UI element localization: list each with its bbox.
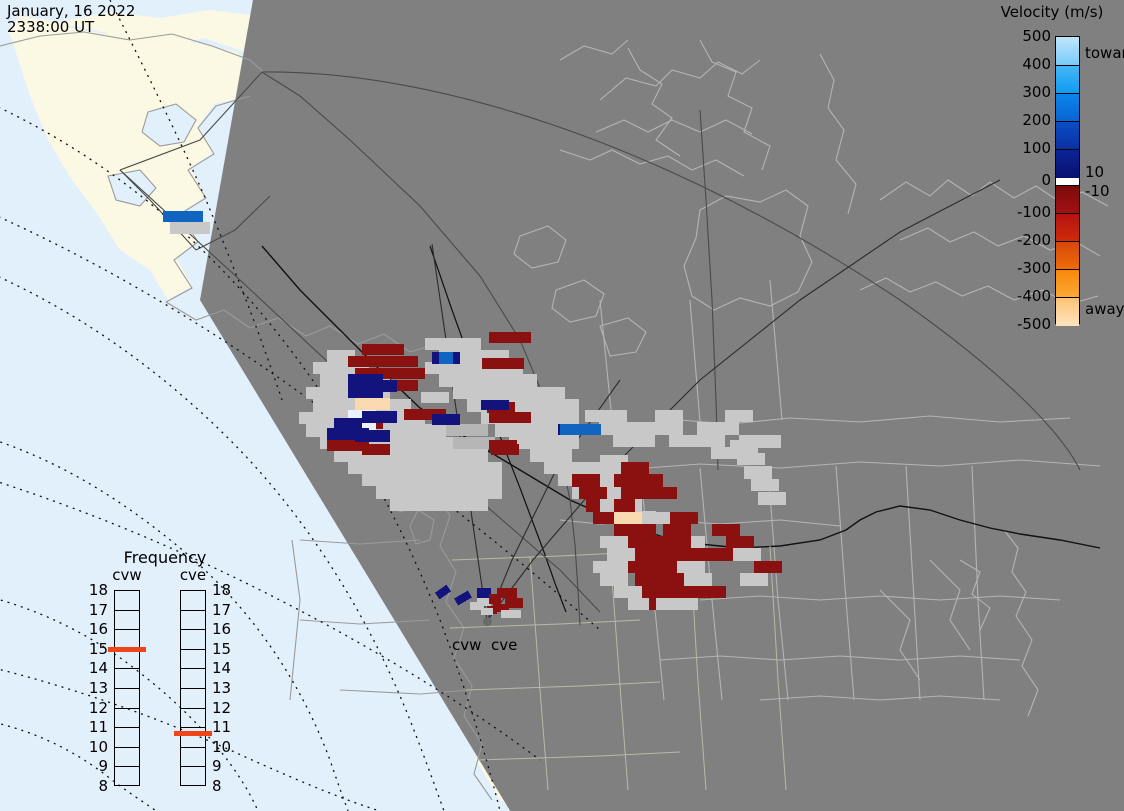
velocity-colorbar: [1055, 36, 1080, 324]
velocity-away-label: away: [1085, 300, 1124, 318]
velocity-tick-label: 300: [1022, 83, 1051, 101]
frequency-gridline: [115, 688, 139, 689]
velocity-band: [1056, 297, 1079, 326]
frequency-scale-cve: [180, 590, 206, 786]
frequency-gridline: [181, 766, 205, 767]
frequency-gridline: [115, 727, 139, 728]
frequency-tick-label: 13: [82, 679, 108, 697]
frequency-marker-cve: [174, 731, 212, 736]
velocity-band: [1056, 149, 1079, 178]
frequency-tick-label: 14: [82, 659, 108, 677]
frequency-gridline: [115, 668, 139, 669]
frequency-tick-label: 9: [82, 757, 108, 775]
frequency-gridline: [181, 668, 205, 669]
frequency-tick-label: 17: [82, 601, 108, 619]
frequency-tick-label: 11: [212, 718, 238, 736]
frequency-marker-cvw: [108, 647, 146, 652]
frequency-tick-label: 14: [212, 659, 238, 677]
velocity-band: [1056, 241, 1079, 270]
frequency-column-header-cvw: cvw: [106, 566, 148, 584]
scatter-cell-group: [163, 211, 786, 618]
velocity-band: [1056, 178, 1079, 185]
radar-site-label-cvw: cvw: [452, 636, 481, 654]
frequency-tick-label: 9: [212, 757, 238, 775]
velocity-band: [1056, 185, 1079, 214]
frequency-gridline: [181, 747, 205, 748]
frequency-tick-label: 15: [212, 640, 238, 658]
velocity-tick-label: -200: [1017, 231, 1051, 249]
velocity-toward-label: toward: [1085, 44, 1124, 62]
frequency-tick-label: 12: [212, 699, 238, 717]
radar-site-label-cve: cve: [491, 636, 517, 654]
frequency-tick-label: 10: [212, 738, 238, 756]
timestamp-time: 2338:00 UT: [7, 18, 94, 36]
velocity-band: [1056, 213, 1079, 242]
radar-site-marker: [483, 617, 492, 626]
velocity-tick-label: -400: [1017, 287, 1051, 305]
frequency-tick-label: 12: [82, 699, 108, 717]
velocity-band: [1056, 65, 1079, 94]
velocity-band: [1056, 37, 1079, 65]
frequency-tick-label: 11: [82, 718, 108, 736]
superdarn-fan-plot: January, 16 20222338:00 UT Velocity (m/s…: [0, 0, 1124, 811]
frequency-tick-label: 18: [82, 581, 108, 599]
frequency-tick-label: 18: [212, 581, 238, 599]
frequency-legend-title: Frequency: [80, 548, 250, 567]
velocity-band: [1056, 121, 1079, 150]
velocity-negative-threshold: -10: [1085, 182, 1110, 200]
frequency-tick-label: 17: [212, 601, 238, 619]
frequency-tick-label: 16: [212, 620, 238, 638]
frequency-tick-label: 13: [212, 679, 238, 697]
frequency-tick-label: 8: [212, 777, 238, 795]
frequency-gridline: [181, 688, 205, 689]
frequency-gridline: [115, 708, 139, 709]
velocity-tick-label: 0: [1041, 171, 1051, 189]
velocity-legend-title: Velocity (m/s): [980, 3, 1124, 21]
frequency-tick-label: 8: [82, 777, 108, 795]
frequency-tick-label: 15: [82, 640, 108, 658]
frequency-gridline: [115, 629, 139, 630]
frequency-gridline: [181, 629, 205, 630]
velocity-tick-label: 400: [1022, 55, 1051, 73]
velocity-band: [1056, 93, 1079, 122]
frequency-column-header-cve: cve: [172, 566, 214, 584]
velocity-tick-label: 200: [1022, 111, 1051, 129]
velocity-tick-label: 500: [1022, 27, 1051, 45]
frequency-tick-label: 16: [82, 620, 108, 638]
frequency-legend: Frequency cvw18171615141312111098cve1817…: [80, 548, 250, 788]
velocity-tick-label: 100: [1022, 139, 1051, 157]
frequency-tick-label: 10: [82, 738, 108, 756]
frequency-gridline: [181, 727, 205, 728]
frequency-scale-cvw: [114, 590, 140, 786]
velocity-tick-label: -100: [1017, 203, 1051, 221]
frequency-gridline: [181, 610, 205, 611]
velocity-tick-label: -300: [1017, 259, 1051, 277]
velocity-tick-label: -500: [1017, 315, 1051, 333]
frequency-gridline: [115, 610, 139, 611]
frequency-gridline: [181, 708, 205, 709]
velocity-positive-threshold: 10: [1085, 163, 1104, 181]
timestamp: January, 16 20222338:00 UT: [7, 3, 135, 35]
frequency-gridline: [115, 747, 139, 748]
frequency-gridline: [115, 766, 139, 767]
frequency-gridline: [181, 649, 205, 650]
velocity-band: [1056, 269, 1079, 298]
